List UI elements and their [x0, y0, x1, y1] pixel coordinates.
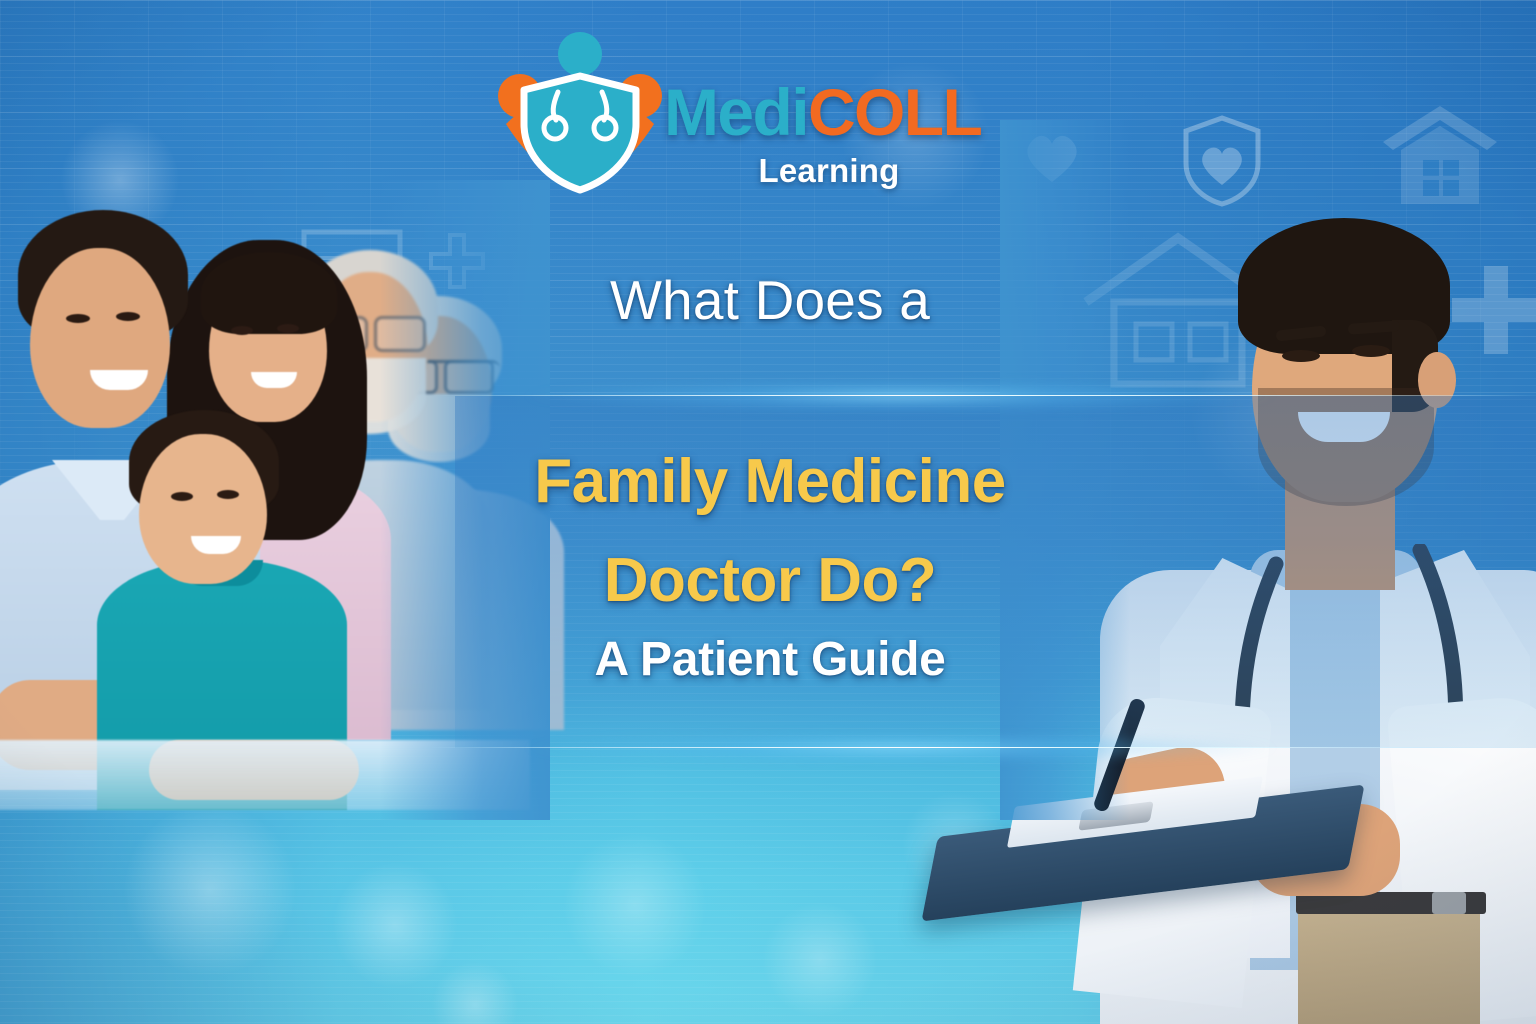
doctor-beard	[1258, 388, 1434, 506]
father-head	[30, 248, 170, 428]
headline-eyebrow: What Does a	[430, 272, 1110, 330]
doctor-ear	[1418, 352, 1456, 408]
doctor-eye-right	[1352, 345, 1390, 357]
poster-canvas: What Does a Family Medicine Doctor Do? A…	[0, 0, 1536, 1024]
brand-word-medi: Medi	[664, 75, 808, 149]
belt-buckle-icon	[1432, 892, 1466, 914]
headline-gold-wrap: Family Medicine Doctor Do?	[430, 432, 1110, 630]
boy-eye-left	[171, 492, 193, 501]
medicoll-people-shield-stethoscope-icon	[496, 28, 664, 196]
father-eye-left	[66, 314, 90, 323]
mother-eye-right	[277, 324, 299, 333]
headline-gold-line2: Doctor Do?	[430, 531, 1110, 630]
doctor-trousers	[1298, 900, 1480, 1024]
brand-word-coll: COLL	[808, 75, 981, 149]
brand-logo[interactable]: MediCOLL Learning	[496, 26, 996, 196]
headline-subtitle: A Patient Guide	[430, 632, 1110, 687]
brand-wordmark: MediCOLL	[664, 74, 981, 150]
boy-eye-right	[217, 490, 239, 499]
doctor-eye-left	[1282, 350, 1320, 362]
headline-gold-line1: Family Medicine	[430, 432, 1110, 531]
father-eye-right	[116, 312, 140, 321]
boy-head	[139, 434, 267, 584]
brand-tagline: Learning	[664, 152, 994, 190]
headline-subtitle-wrap: A Patient Guide	[430, 632, 1110, 687]
headline-eyebrow-wrap: What Does a	[430, 272, 1110, 330]
